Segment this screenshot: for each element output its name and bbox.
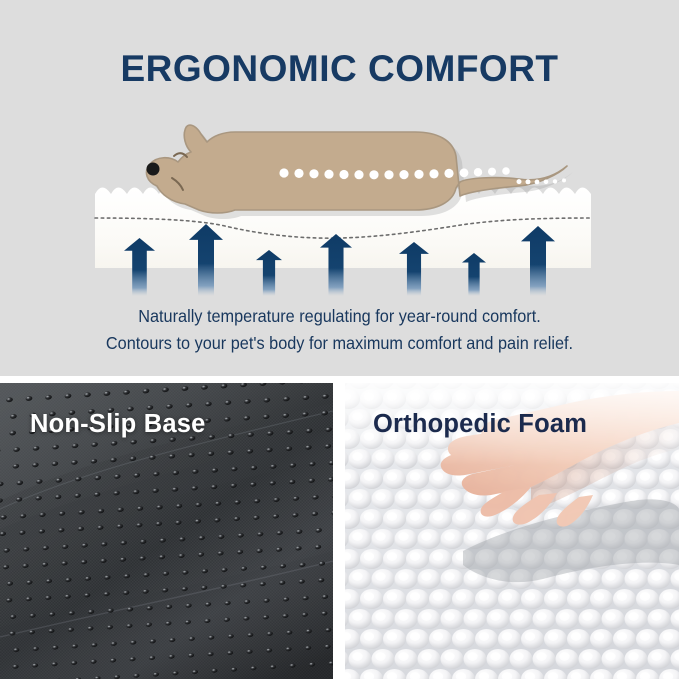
caption-line-2: Contours to your pet's body for maximum … <box>24 330 655 357</box>
non-slip-base-label: Non-Slip Base <box>30 410 205 439</box>
orthopedic-foam-label: Orthopedic Foam <box>373 410 587 439</box>
non-slip-base-panel: Non-Slip Base <box>0 383 333 679</box>
arrow <box>521 226 555 296</box>
arrow <box>462 253 486 296</box>
ergonomic-comfort-panel: ERGONOMIC COMFORT <box>0 0 679 376</box>
orthopedic-foam-panel: Orthopedic Foam <box>345 383 679 679</box>
arrow <box>320 234 352 296</box>
arrow <box>399 242 429 296</box>
product-infographic: ERGONOMIC COMFORT <box>0 0 679 679</box>
pressure-arrows <box>93 214 595 296</box>
arrow <box>189 224 223 296</box>
dog-nose <box>147 163 160 176</box>
caption-line-1: Naturally temperature regulating for yea… <box>24 303 655 330</box>
bottom-feature-row: Non-Slip Base <box>0 383 679 679</box>
arrow <box>256 250 282 296</box>
feature-captions: Naturally temperature regulating for yea… <box>0 303 679 357</box>
page-title: ERGONOMIC COMFORT <box>0 48 679 90</box>
arrow <box>124 238 155 296</box>
